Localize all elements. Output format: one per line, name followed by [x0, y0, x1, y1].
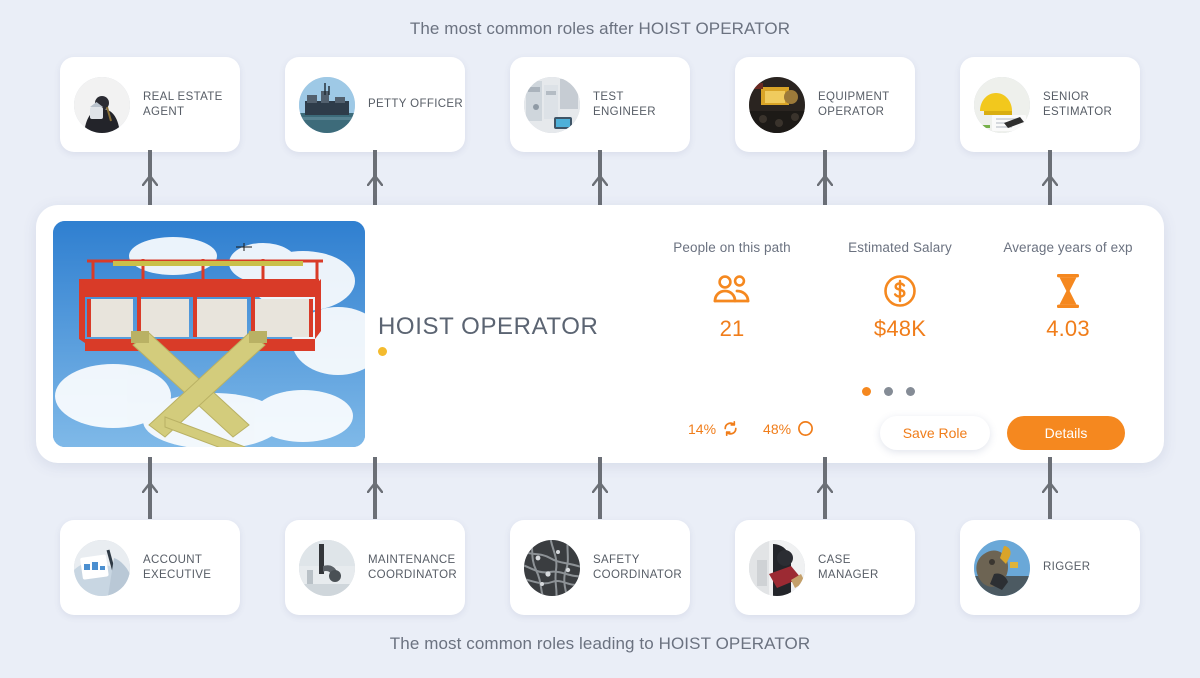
metric-value: 14% [688, 421, 716, 437]
arrow-up-icon [814, 457, 836, 519]
equipment-operator-photo [749, 77, 805, 133]
stat-value: 21 [648, 316, 816, 342]
action-buttons: Save Role Details [880, 416, 1125, 450]
metric-retention: 48% [763, 420, 814, 437]
arrow-up-icon [814, 150, 836, 212]
connector-slot [60, 457, 240, 521]
stat-label: Average years of exp [984, 240, 1152, 255]
rigger-photo [974, 540, 1030, 596]
previous-roles-row: ACCOUNT EXECUTIVE MAINTENANCE COORDINATO… [60, 520, 1140, 615]
safety-coordinator-photo [524, 540, 580, 596]
stat-average-years-exp: Average years of exp 4.03 [984, 240, 1152, 342]
details-button[interactable]: Details [1007, 416, 1125, 450]
metrics-group: 14% 48% [688, 420, 814, 437]
role-card-equipment-operator[interactable]: EQUIPMENT OPERATOR [735, 57, 915, 152]
stat-people-on-path: People on this path 21 [648, 240, 816, 342]
carousel-dots[interactable] [862, 387, 915, 396]
role-label: REAL ESTATE AGENT [143, 90, 239, 120]
people-icon [648, 269, 816, 313]
maintenance-coordinator-photo [299, 540, 355, 596]
role-label: SENIOR ESTIMATOR [1043, 90, 1139, 120]
role-card-real-estate-agent[interactable]: REAL ESTATE AGENT [60, 57, 240, 152]
previous-roles-connectors [60, 457, 1140, 521]
real-estate-agent-photo [74, 77, 130, 133]
connector-slot [285, 457, 465, 521]
hourglass-icon [984, 269, 1152, 313]
role-label: EQUIPMENT OPERATOR [818, 90, 914, 120]
role-card-maintenance-coordinator[interactable]: MAINTENANCE COORDINATOR [285, 520, 465, 615]
arrow-up-icon [589, 457, 611, 519]
arrow-up-icon [139, 150, 161, 212]
stats-group: People on this path 21 Estimated Salary [648, 240, 1153, 342]
scissor-lift-platform-against-blue-sky [53, 221, 365, 447]
stat-value: $48K [816, 316, 984, 342]
role-card-account-executive[interactable]: ACCOUNT EXECUTIVE [60, 520, 240, 615]
arrow-up-icon [589, 150, 611, 212]
refresh-cycle-icon [722, 420, 739, 437]
stat-value: 4.03 [984, 316, 1152, 342]
case-manager-photo [749, 540, 805, 596]
role-label: MAINTENANCE COORDINATOR [368, 553, 464, 583]
role-card-senior-estimator[interactable]: SENIOR ESTIMATOR [960, 57, 1140, 152]
role-label: RIGGER [1043, 560, 1090, 575]
stat-label: People on this path [648, 240, 816, 255]
role-label: SAFETY COORDINATOR [593, 553, 689, 583]
arrow-up-icon [364, 457, 386, 519]
account-executive-photo [74, 540, 130, 596]
connector-slot [510, 457, 690, 521]
role-label: TEST ENGINEER [593, 90, 689, 120]
arrow-up-icon [139, 457, 161, 519]
role-card-petty-officer[interactable]: PETTY OFFICER [285, 57, 465, 152]
carousel-dot-2[interactable] [884, 387, 893, 396]
next-roles-row: REAL ESTATE AGENT PETTY OFFICER TEST ENG… [60, 57, 1140, 152]
role-card-safety-coordinator[interactable]: SAFETY COORDINATOR [510, 520, 690, 615]
carousel-dot-1[interactable] [862, 387, 871, 396]
status-badge [378, 347, 387, 356]
role-card-case-manager[interactable]: CASE MANAGER [735, 520, 915, 615]
arrow-up-icon [1039, 150, 1061, 212]
connector-slot [960, 457, 1140, 521]
ring-circle-icon [797, 420, 814, 437]
stat-estimated-salary: Estimated Salary $48K [816, 240, 984, 342]
role-label: ACCOUNT EXECUTIVE [143, 553, 239, 583]
top-caption: The most common roles after HOIST OPERAT… [0, 19, 1200, 39]
arrow-up-icon [364, 150, 386, 212]
carousel-dot-3[interactable] [906, 387, 915, 396]
bottom-caption: The most common roles leading to HOIST O… [0, 634, 1200, 654]
role-card-rigger[interactable]: RIGGER [960, 520, 1140, 615]
metric-value: 48% [763, 421, 791, 437]
metric-growth: 14% [688, 420, 739, 437]
role-card-test-engineer[interactable]: TEST ENGINEER [510, 57, 690, 152]
stat-label: Estimated Salary [816, 240, 984, 255]
arrow-up-icon [1039, 457, 1061, 519]
senior-estimator-photo [974, 77, 1030, 133]
save-role-button[interactable]: Save Role [880, 416, 990, 450]
connector-slot [735, 457, 915, 521]
role-label: PETTY OFFICER [368, 97, 463, 112]
petty-officer-photo [299, 77, 355, 133]
page-title: HOIST OPERATOR [378, 313, 598, 341]
current-role-card: HOIST OPERATOR People on this path 21 Es… [36, 205, 1164, 463]
test-engineer-photo [524, 77, 580, 133]
dollar-circle-icon [816, 269, 984, 313]
role-label: CASE MANAGER [818, 553, 914, 583]
